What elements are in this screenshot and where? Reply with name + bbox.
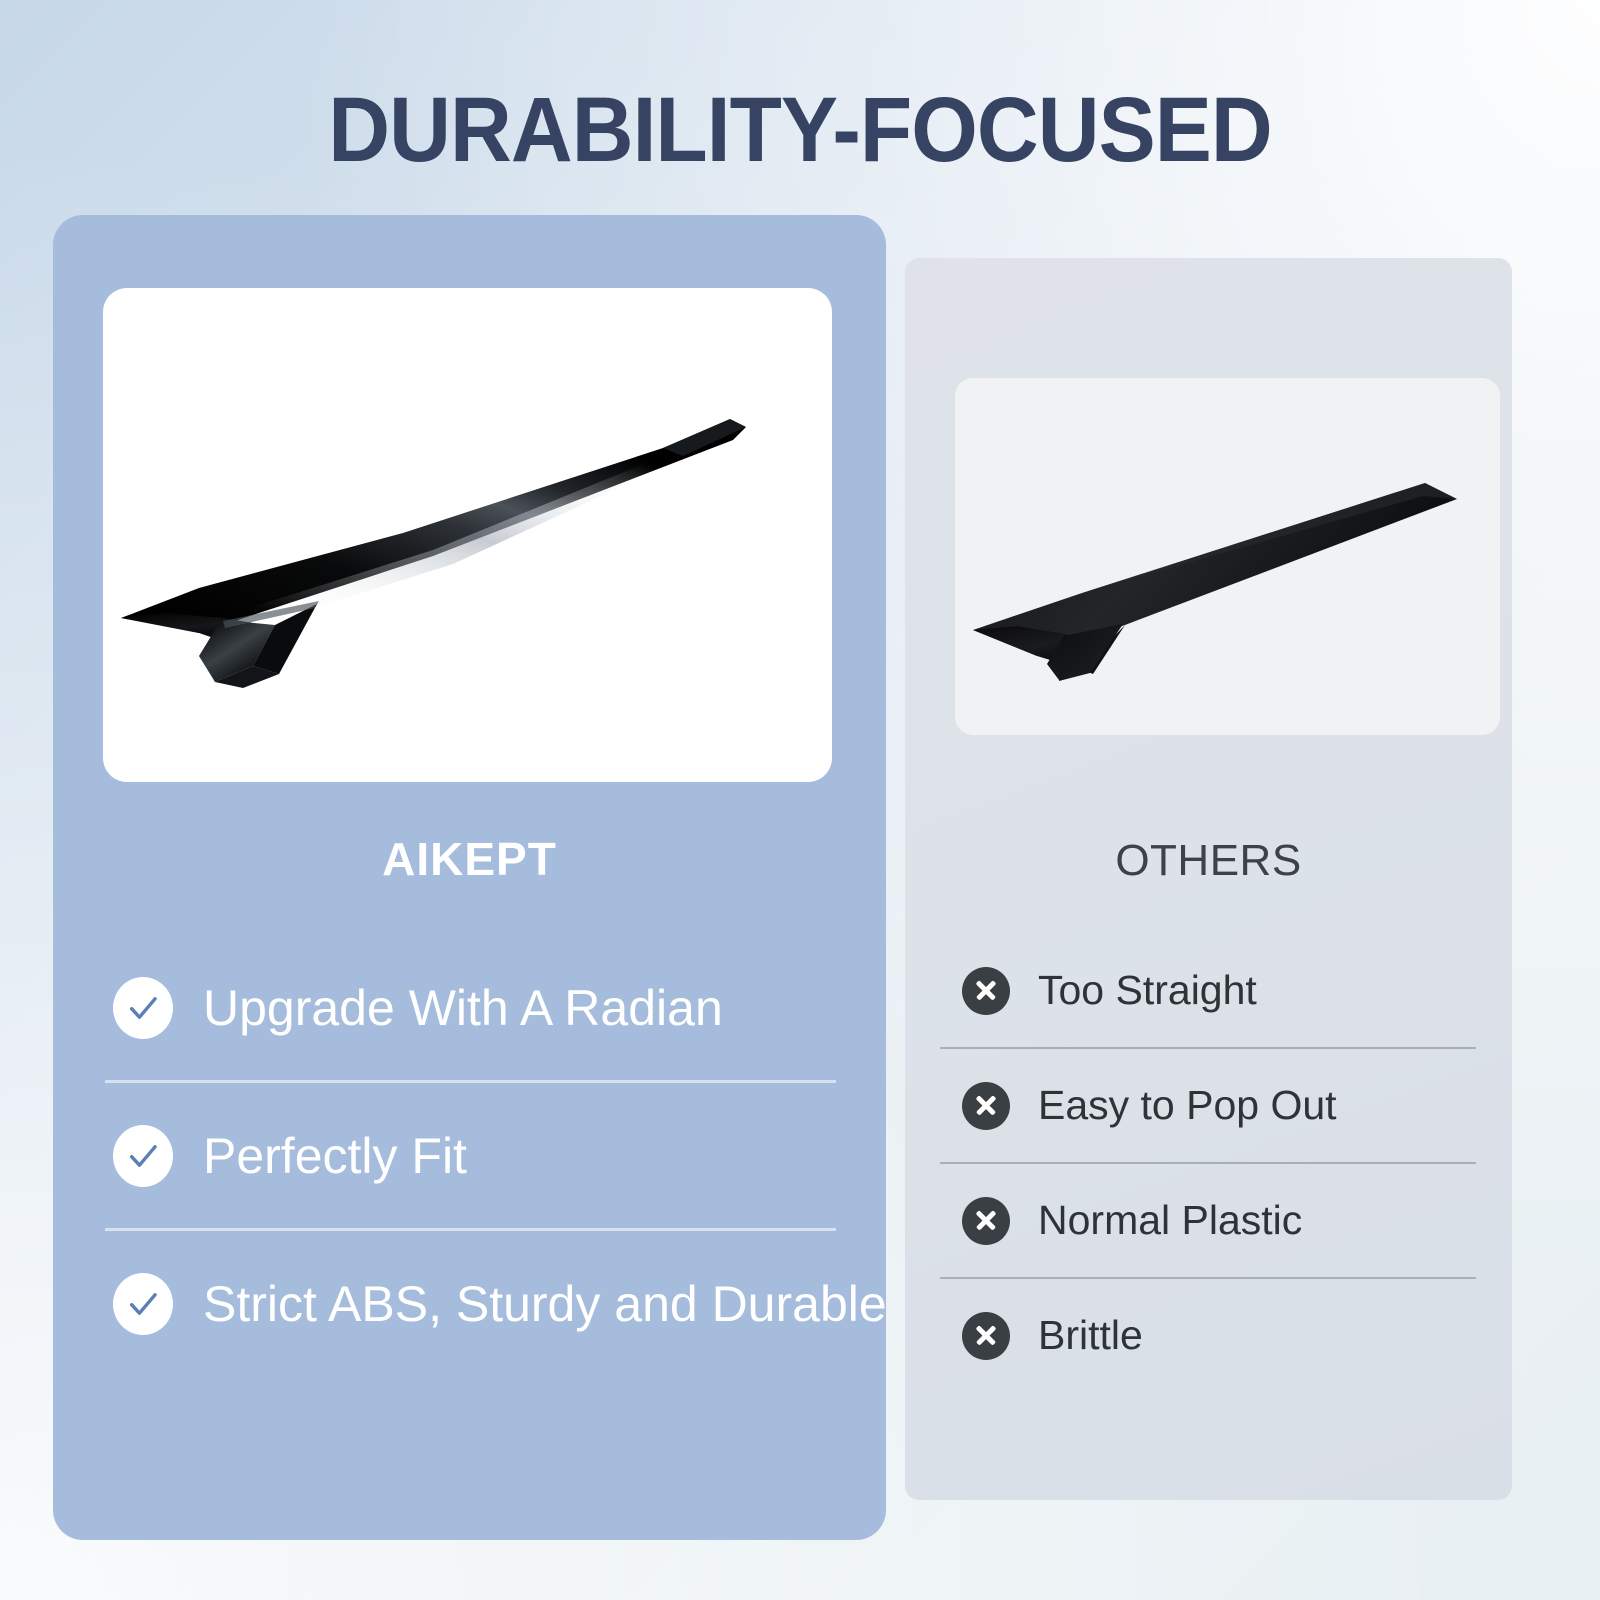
list-item: Brittle xyxy=(938,1279,1478,1392)
list-item: Perfectly Fit xyxy=(83,1083,858,1228)
list-item: Too Straight xyxy=(938,934,1478,1047)
list-item-label: Upgrade With A Radian xyxy=(203,979,723,1037)
page-title: DURABILITY-FOCUSED xyxy=(56,78,1544,183)
list-item-label: Brittle xyxy=(1038,1312,1143,1359)
brand-product-image-card xyxy=(103,288,832,782)
x-icon xyxy=(962,1312,1010,1360)
others-panel: OTHERS Too Straight Easy to Pop Out Norm… xyxy=(905,258,1512,1500)
check-icon xyxy=(113,1125,173,1187)
glossy-black-roof-spoiler-icon xyxy=(103,288,832,782)
list-item-label: Easy to Pop Out xyxy=(1038,1082,1337,1129)
check-icon xyxy=(113,1273,173,1335)
x-icon xyxy=(962,1082,1010,1130)
others-feature-list: Too Straight Easy to Pop Out Normal Plas… xyxy=(938,934,1478,1392)
list-item: Normal Plastic xyxy=(938,1164,1478,1277)
others-heading: OTHERS xyxy=(905,836,1512,886)
brand-heading: AIKEPT xyxy=(53,832,886,886)
list-item-label: Perfectly Fit xyxy=(203,1127,467,1185)
x-icon xyxy=(962,967,1010,1015)
brand-feature-list: Upgrade With A Radian Perfectly Fit xyxy=(83,935,858,1376)
list-item-label: Too Straight xyxy=(1038,967,1257,1014)
others-product-image-card xyxy=(955,378,1500,735)
list-item-label: Normal Plastic xyxy=(1038,1197,1302,1244)
matte-black-straight-spoiler-icon xyxy=(955,378,1500,735)
comparison-infographic: DURABILITY-FOCUSED xyxy=(0,0,1600,1600)
brand-panel: AIKEPT Upgrade With A Radian Perfectly F… xyxy=(53,215,886,1540)
list-item: Upgrade With A Radian xyxy=(83,935,858,1080)
check-icon xyxy=(113,977,173,1039)
list-item-label: Strict ABS, Sturdy and Durable xyxy=(203,1275,887,1333)
list-item: Easy to Pop Out xyxy=(938,1049,1478,1162)
list-item: Strict ABS, Sturdy and Durable xyxy=(83,1231,858,1376)
x-icon xyxy=(962,1197,1010,1245)
